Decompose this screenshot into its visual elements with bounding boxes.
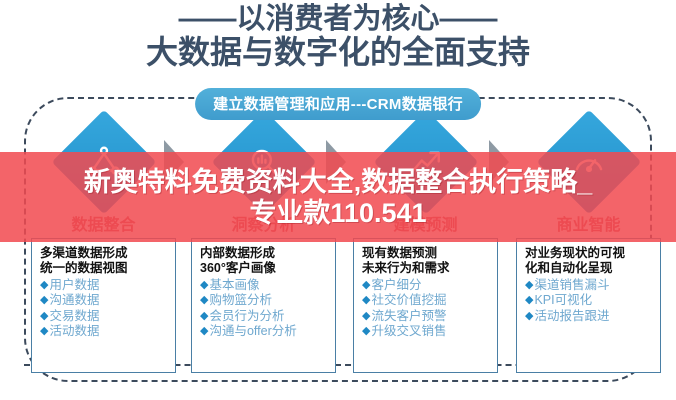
column-card: 现有数据预测 未来行为和需求 ◆客户细分 ◆社交价值挖掘 ◆流失客户预警 ◆升级… <box>353 238 498 373</box>
list-item-label: 客户细分 <box>371 278 421 294</box>
list-item: ◆基本画像 <box>200 278 329 294</box>
list-item: ◆升级交叉销售 <box>362 324 491 340</box>
list-item-label: 沟通数据 <box>49 293 99 309</box>
list-item: ◆交易数据 <box>40 309 169 325</box>
crm-badge: 建立数据管理和应用---CRM数据银行 <box>195 88 481 120</box>
card-title: 多渠道数据形成 统一的数据视图 <box>40 246 169 277</box>
diamond-bullet-icon: ◆ <box>40 324 48 339</box>
diamond-bullet-icon: ◆ <box>362 293 370 308</box>
list-item: ◆流失客户预警 <box>362 309 491 325</box>
card-title: 对业务现状的可视 化和自动化呈现 <box>525 246 654 277</box>
list-item-label: 渠道销售漏斗 <box>534 278 609 294</box>
diamond-bullet-icon: ◆ <box>525 293 533 308</box>
diamond-bullet-icon: ◆ <box>200 293 208 308</box>
diamond-bullet-icon: ◆ <box>362 324 370 339</box>
list-item-label: 会员行为分析 <box>209 309 284 325</box>
infographic-canvas: ——以消费者为核心—— 大数据与数字化的全面支持 建立数据管理和应用---CRM… <box>0 0 676 400</box>
list-item-label: 沟通与offer分析 <box>209 324 296 340</box>
diamond-bullet-icon: ◆ <box>40 278 48 293</box>
card-title: 现有数据预测 未来行为和需求 <box>362 246 491 277</box>
headline-line-1: ——以消费者为核心—— <box>0 4 676 34</box>
watermark-line-1: 新奥特料免费资料大全,数据整合执行策略_ <box>84 166 593 199</box>
diamond-bullet-icon: ◆ <box>525 278 533 293</box>
card-list: ◆基本画像 ◆ 购物篮分析 ◆会员行为分析 ◆沟通与offer分析 <box>200 278 329 340</box>
list-item: ◆社交价值挖掘 <box>362 293 491 309</box>
watermark-line-2: 专业款110.541 <box>249 197 426 230</box>
watermark-text: 新奥特料免费资料大全,数据整合执行策略_ 专业款110.541 <box>0 155 676 241</box>
list-item-label: 活动报告跟进 <box>534 309 609 325</box>
card-title: 内部数据形成 360°客户画像 <box>200 246 329 277</box>
column-card: 多渠道数据形成 统一的数据视图 ◆用户数据 ◆沟通数据 ◆交易数据 ◆活动数据 <box>31 238 176 373</box>
list-item: ◆客户细分 <box>362 278 491 294</box>
list-item-label: 活动数据 <box>49 324 99 340</box>
diamond-bullet-icon: ◆ <box>40 293 48 308</box>
list-item: ◆会员行为分析 <box>200 309 329 325</box>
list-item: ◆活动报告跟进 <box>525 309 654 325</box>
list-item-label: 流失客户预警 <box>371 309 446 325</box>
list-item: ◆沟通数据 <box>40 293 169 309</box>
diamond-bullet-icon: ◆ <box>200 324 208 339</box>
list-item: ◆用户数据 <box>40 278 169 294</box>
page-title: ——以消费者为核心—— 大数据与数字化的全面支持 <box>0 4 676 70</box>
column-card: 内部数据形成 360°客户画像 ◆基本画像 ◆ 购物篮分析 ◆会员行为分析 ◆沟… <box>191 238 336 373</box>
card-list: ◆客户细分 ◆社交价值挖掘 ◆流失客户预警 ◆升级交叉销售 <box>362 278 491 340</box>
diamond-bullet-icon: ◆ <box>40 309 48 324</box>
diamond-bullet-icon: ◆ <box>200 278 208 293</box>
list-item-label: 购物篮分析 <box>209 293 272 309</box>
diamond-bullet-icon: ◆ <box>362 278 370 293</box>
diamond-bullet-icon: ◆ <box>200 309 208 324</box>
list-item-label: 升级交叉销售 <box>371 324 446 340</box>
list-item-label: KPI可视化 <box>534 293 592 309</box>
list-item: ◆ 购物篮分析 <box>200 293 329 309</box>
card-list: ◆用户数据 ◆沟通数据 ◆交易数据 ◆活动数据 <box>40 278 169 340</box>
headline-line-2: 大数据与数字化的全面支持 <box>0 36 676 70</box>
list-item: ◆渠道销售漏斗 <box>525 278 654 294</box>
list-item-label: 基本画像 <box>209 278 259 294</box>
list-item-label: 社交价值挖掘 <box>371 293 446 309</box>
column-card: 对业务现状的可视 化和自动化呈现 ◆渠道销售漏斗 ◆KPI可视化 ◆活动报告跟进 <box>516 238 661 373</box>
diamond-bullet-icon: ◆ <box>362 309 370 324</box>
diamond-bullet-icon: ◆ <box>525 309 533 324</box>
list-item: ◆活动数据 <box>40 324 169 340</box>
list-item-label: 交易数据 <box>49 309 99 325</box>
list-item: ◆KPI可视化 <box>525 293 654 309</box>
list-item: ◆沟通与offer分析 <box>200 324 329 340</box>
card-list: ◆渠道销售漏斗 ◆KPI可视化 ◆活动报告跟进 <box>525 278 654 325</box>
list-item-label: 用户数据 <box>49 278 99 294</box>
